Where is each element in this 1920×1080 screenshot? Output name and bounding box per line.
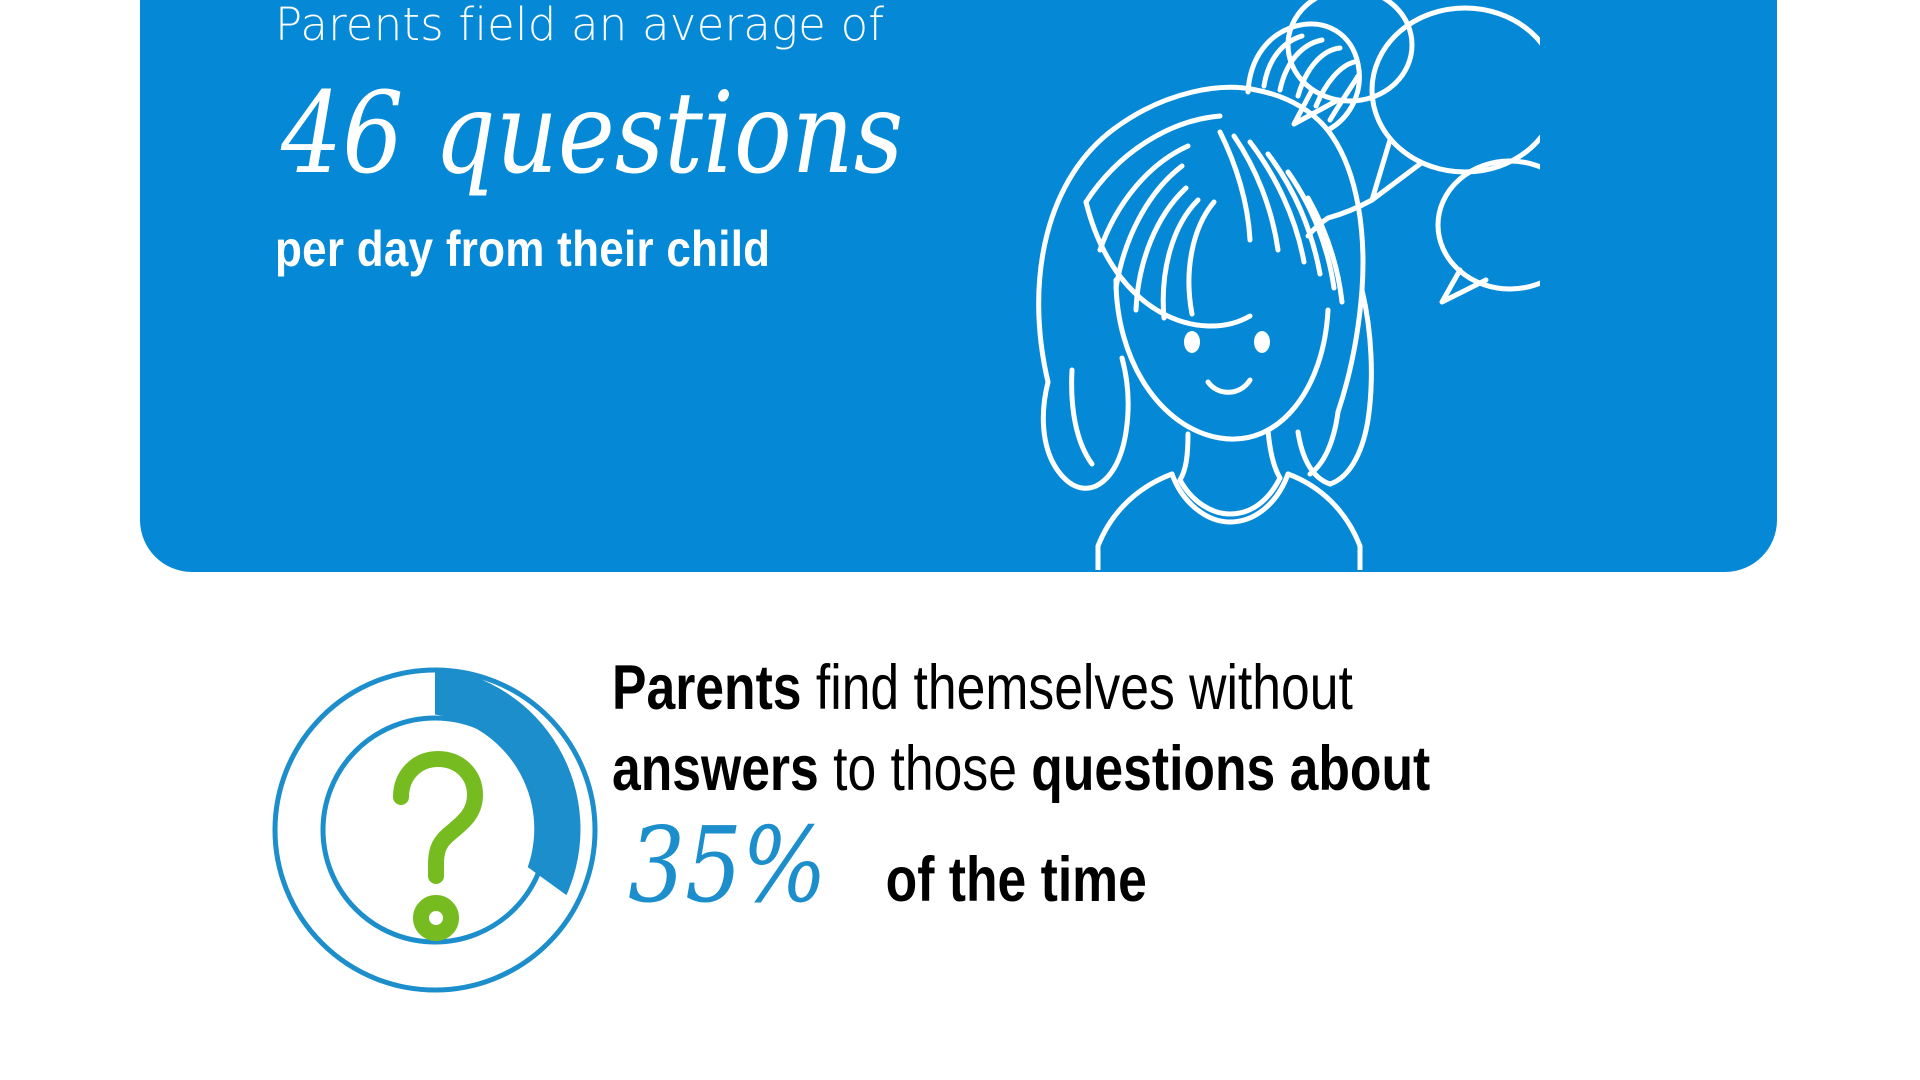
stat-text-block: Parents find themselves without answers … bbox=[612, 648, 1752, 917]
stat-percent-value: 35% bbox=[628, 813, 827, 917]
girl-hair-bun bbox=[1248, 24, 1359, 130]
hero-stat-value: 46 questions bbox=[281, 64, 929, 204]
girl-eyes bbox=[1184, 331, 1270, 353]
question-mark-icon bbox=[401, 759, 475, 933]
stat-line-2-bold-b: questions about bbox=[1031, 734, 1430, 804]
donut-value-arc bbox=[435, 668, 580, 896]
stat-line-1-bold: Parents bbox=[612, 653, 802, 723]
stat-line-2-bold-a: answers bbox=[612, 734, 819, 804]
donut-chart bbox=[255, 650, 615, 1010]
stat-percent-tail: of the time bbox=[886, 844, 1147, 916]
stat-line-2-mid: to those bbox=[819, 734, 1032, 804]
girl-with-speech-bubbles-illustration bbox=[920, 0, 1540, 570]
speech-bubble-large-icon bbox=[1372, 8, 1540, 200]
stat-line-1: Parents find themselves without bbox=[612, 648, 1547, 729]
girl-mouth bbox=[1208, 380, 1250, 392]
girl-body bbox=[1098, 430, 1360, 570]
stat-row: Parents find themselves without answers … bbox=[0, 620, 1920, 1040]
speech-bubble-medium-icon bbox=[1438, 161, 1540, 302]
hero-headline-line-3: per day from their child bbox=[275, 220, 944, 278]
stat-line-1-rest: find themselves without bbox=[802, 653, 1353, 723]
infographic-canvas: Parents field an average of 46 questions… bbox=[0, 0, 1920, 1080]
hero-card: Parents field an average of 46 questions… bbox=[140, 0, 1777, 572]
stat-line-3: 35% of the time bbox=[612, 813, 1752, 917]
girl-hair bbox=[1039, 87, 1372, 488]
stat-line-2: answers to those questions about bbox=[612, 729, 1547, 810]
girl-bangs bbox=[1086, 116, 1342, 326]
